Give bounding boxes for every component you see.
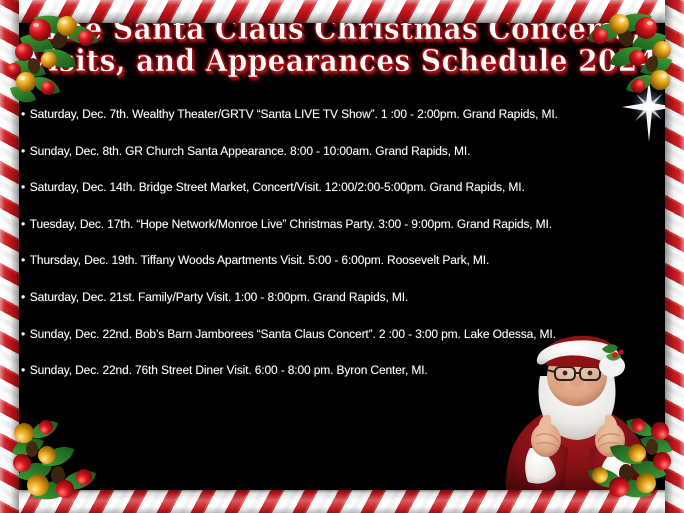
schedule-entry-text: Saturday, Dec. 14th. Bridge Street Marke… xyxy=(30,180,525,194)
holly-ornament-cluster-icon-top-right xyxy=(560,2,682,114)
schedule-entry-text: Saturday, Dec. 21st. Family/Party Visit.… xyxy=(30,290,408,304)
christmas-schedule-poster: The Santa Claus Christmas Concerts, Visi… xyxy=(0,0,684,513)
list-bullet: • xyxy=(21,316,30,353)
schedule-entry-text: Tuesday, Dec. 17th. “Hope Network/Monroe… xyxy=(30,217,552,231)
schedule-entry-text: Sunday, Dec. 8th. GR Church Santa Appear… xyxy=(30,144,471,158)
list-bullet: • xyxy=(21,279,30,316)
list-item: •Tuesday, Dec. 17th. “Hope Network/Monro… xyxy=(21,206,622,243)
list-item: •Sunday, Dec. 8th. GR Church Santa Appea… xyxy=(21,133,622,170)
holly-ornament-cluster-icon-bottom-left xyxy=(2,401,126,511)
list-bullet: • xyxy=(21,242,30,279)
list-bullet: • xyxy=(21,352,30,389)
schedule-entry-text: Thursday, Dec. 19th. Tiffany Woods Apart… xyxy=(30,253,489,267)
list-item: •Thursday, Dec. 19th. Tiffany Woods Apar… xyxy=(21,242,622,279)
list-bullet: • xyxy=(21,206,30,243)
list-bullet: • xyxy=(21,133,30,170)
list-item: •Saturday, Dec. 21st. Family/Party Visit… xyxy=(21,279,622,316)
list-item: •Saturday, Dec. 14th. Bridge Street Mark… xyxy=(21,169,622,206)
schedule-entry-text: Sunday, Dec. 22nd. Bob’s Barn Jamborees … xyxy=(30,327,556,341)
schedule-entry-text: Sunday, Dec. 22nd. 76th Street Diner Vis… xyxy=(30,363,428,377)
holly-ornament-cluster-icon-bottom-right xyxy=(556,403,682,509)
list-bullet: • xyxy=(21,169,30,206)
holly-ornament-cluster-icon-top-left xyxy=(4,4,132,116)
